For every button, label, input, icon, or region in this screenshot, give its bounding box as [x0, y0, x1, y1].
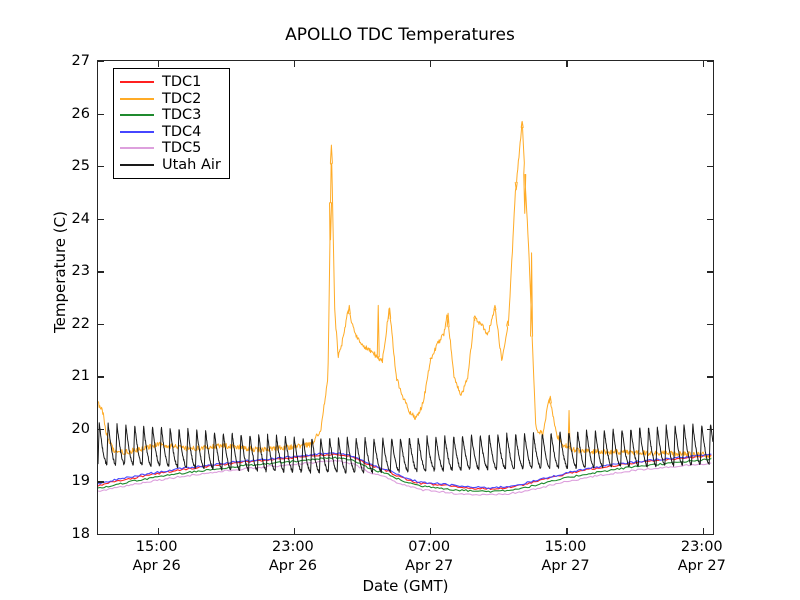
y-tick-label-group: 18192021222324252627	[44, 60, 90, 535]
x-tick-mark	[158, 528, 159, 534]
y-tick-mark	[98, 481, 104, 482]
y-tick-mark	[98, 271, 104, 272]
legend-item-tdc2[interactable]: TDC2	[120, 91, 221, 108]
legend-color-swatch	[120, 81, 154, 83]
x-tick-label: 07:00Apr 27	[369, 538, 489, 576]
legend[interactable]: TDC1TDC2TDC3TDC4TDC5Utah Air	[113, 68, 230, 179]
y-tick-label: 18	[50, 526, 90, 542]
x-tick-label-group: 15:00Apr 2623:00Apr 2607:00Apr 2715:00Ap…	[97, 538, 714, 582]
legend-color-swatch	[120, 164, 154, 166]
x-tick-date: Apr 27	[505, 557, 625, 576]
chart-title: APOLLO TDC Temperatures	[0, 25, 800, 45]
x-tick-mark	[703, 528, 704, 534]
legend-label: TDC4	[162, 124, 201, 140]
legend-item-tdc5[interactable]: TDC5	[120, 140, 221, 157]
x-tick-date: Apr 27	[642, 557, 762, 576]
legend-color-swatch	[120, 114, 154, 116]
x-tick-date: Apr 26	[233, 557, 353, 576]
y-tick-label: 27	[50, 53, 90, 69]
y-tick-mark	[707, 219, 713, 220]
y-tick-label: 21	[50, 368, 90, 384]
legend-item-tdc3[interactable]: TDC3	[120, 107, 221, 124]
y-tick-mark	[98, 61, 104, 62]
series-line-tdc4	[98, 453, 711, 489]
x-tick-time: 07:00	[369, 538, 489, 557]
legend-label: TDC1	[162, 74, 201, 90]
x-tick-mark	[294, 61, 295, 67]
y-tick-mark	[98, 534, 104, 535]
x-tick-date: Apr 26	[97, 557, 217, 576]
y-tick-mark	[707, 429, 713, 430]
y-tick-mark	[98, 114, 104, 115]
x-tick-time: 23:00	[642, 538, 762, 557]
x-tick-mark	[294, 528, 295, 534]
legend-label: TDC5	[162, 140, 201, 156]
legend-color-swatch	[120, 98, 154, 100]
y-tick-label: 20	[50, 421, 90, 437]
y-tick-mark	[707, 166, 713, 167]
x-tick-mark	[566, 528, 567, 534]
legend-item-utah-air[interactable]: Utah Air	[120, 157, 221, 174]
legend-label: TDC2	[162, 91, 201, 107]
y-tick-mark	[707, 114, 713, 115]
x-tick-label: 15:00Apr 26	[97, 538, 217, 576]
x-tick-mark	[703, 61, 704, 67]
series-line-utah-air	[98, 423, 713, 473]
x-tick-mark	[430, 528, 431, 534]
legend-item-tdc4[interactable]: TDC4	[120, 124, 221, 141]
y-tick-label: 24	[50, 211, 90, 227]
y-tick-mark	[98, 429, 104, 430]
legend-item-tdc1[interactable]: TDC1	[120, 74, 221, 91]
x-tick-time: 15:00	[505, 538, 625, 557]
x-tick-date: Apr 27	[369, 557, 489, 576]
x-tick-mark	[158, 61, 159, 67]
y-tick-label: 19	[50, 473, 90, 489]
y-tick-label: 26	[50, 106, 90, 122]
y-tick-mark	[98, 324, 104, 325]
y-tick-label: 25	[50, 158, 90, 174]
y-tick-label: 23	[50, 263, 90, 279]
y-tick-mark	[98, 219, 104, 220]
y-tick-mark	[707, 481, 713, 482]
x-tick-label: 23:00Apr 27	[642, 538, 762, 576]
x-tick-label: 15:00Apr 27	[505, 538, 625, 576]
x-tick-time: 23:00	[233, 538, 353, 557]
y-tick-mark	[98, 376, 104, 377]
figure-canvas: APOLLO TDC Temperatures Temperature (C) …	[0, 0, 800, 600]
x-tick-label: 23:00Apr 26	[233, 538, 353, 576]
legend-label: Utah Air	[162, 157, 221, 173]
legend-label: TDC3	[162, 107, 201, 123]
x-tick-mark	[430, 61, 431, 67]
y-tick-mark	[707, 271, 713, 272]
x-tick-time: 15:00	[97, 538, 217, 557]
y-tick-mark	[707, 376, 713, 377]
x-axis-label: Date (GMT)	[97, 577, 714, 595]
y-tick-mark	[707, 61, 713, 62]
x-tick-mark	[566, 61, 567, 67]
y-tick-label: 22	[50, 316, 90, 332]
y-tick-mark	[707, 534, 713, 535]
y-tick-mark	[707, 324, 713, 325]
y-tick-mark	[98, 166, 104, 167]
legend-color-swatch	[120, 147, 154, 149]
legend-color-swatch	[120, 131, 154, 133]
